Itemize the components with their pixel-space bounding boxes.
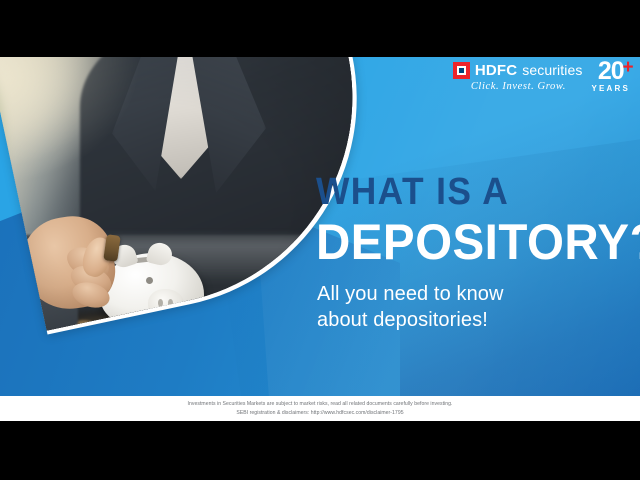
video-frame: HDFC securities Click. Invest. Grow. 20 … bbox=[0, 0, 640, 480]
disclaimer-line-2: SEBI registration & disclaimers: http://… bbox=[236, 409, 403, 418]
piggy-bank-nostril bbox=[158, 299, 163, 307]
brand-name-hdfc: HDFC bbox=[475, 63, 517, 78]
slide-canvas: HDFC securities Click. Invest. Grow. 20 … bbox=[0, 57, 640, 421]
anniversary-number: 20 + bbox=[598, 61, 624, 83]
title-line-2: DEPOSITORY? bbox=[316, 217, 611, 267]
subtitle-line-1: All you need to know bbox=[317, 282, 617, 308]
piggy-bank-eye bbox=[146, 277, 153, 284]
anniversary-number-value: 20 bbox=[598, 57, 624, 85]
brand-tagline: Click. Invest. Grow. bbox=[471, 81, 566, 92]
anniversary-plus-icon: + bbox=[623, 58, 633, 77]
headline: WHAT IS A DEPOSITORY? bbox=[316, 173, 626, 267]
letterbox-bar-bottom bbox=[0, 421, 640, 480]
brand-name-row: HDFC securities bbox=[453, 62, 583, 79]
disclaimer-band: Investments in Securities Markets are su… bbox=[0, 396, 640, 421]
hdfc-securities-logo: HDFC securities Click. Invest. Grow. 20 … bbox=[453, 61, 630, 93]
subtitle: All you need to know about depositories! bbox=[317, 282, 617, 333]
title-line-1: WHAT IS A bbox=[316, 173, 604, 211]
anniversary-badge: 20 + YEARS bbox=[588, 61, 630, 93]
brand-name-securities: securities bbox=[522, 63, 582, 77]
hdfc-mark-inner-square-icon bbox=[457, 66, 466, 75]
piggy-bank-nostril bbox=[168, 299, 173, 307]
subtitle-line-2: about depositories! bbox=[317, 308, 617, 334]
brand-logo: HDFC securities Click. Invest. Grow. bbox=[453, 62, 583, 92]
disclaimer-line-1: Investments in Securities Markets are su… bbox=[188, 400, 453, 409]
letterbox-bar-top bbox=[0, 0, 640, 57]
hdfc-square-mark-icon bbox=[453, 62, 470, 79]
